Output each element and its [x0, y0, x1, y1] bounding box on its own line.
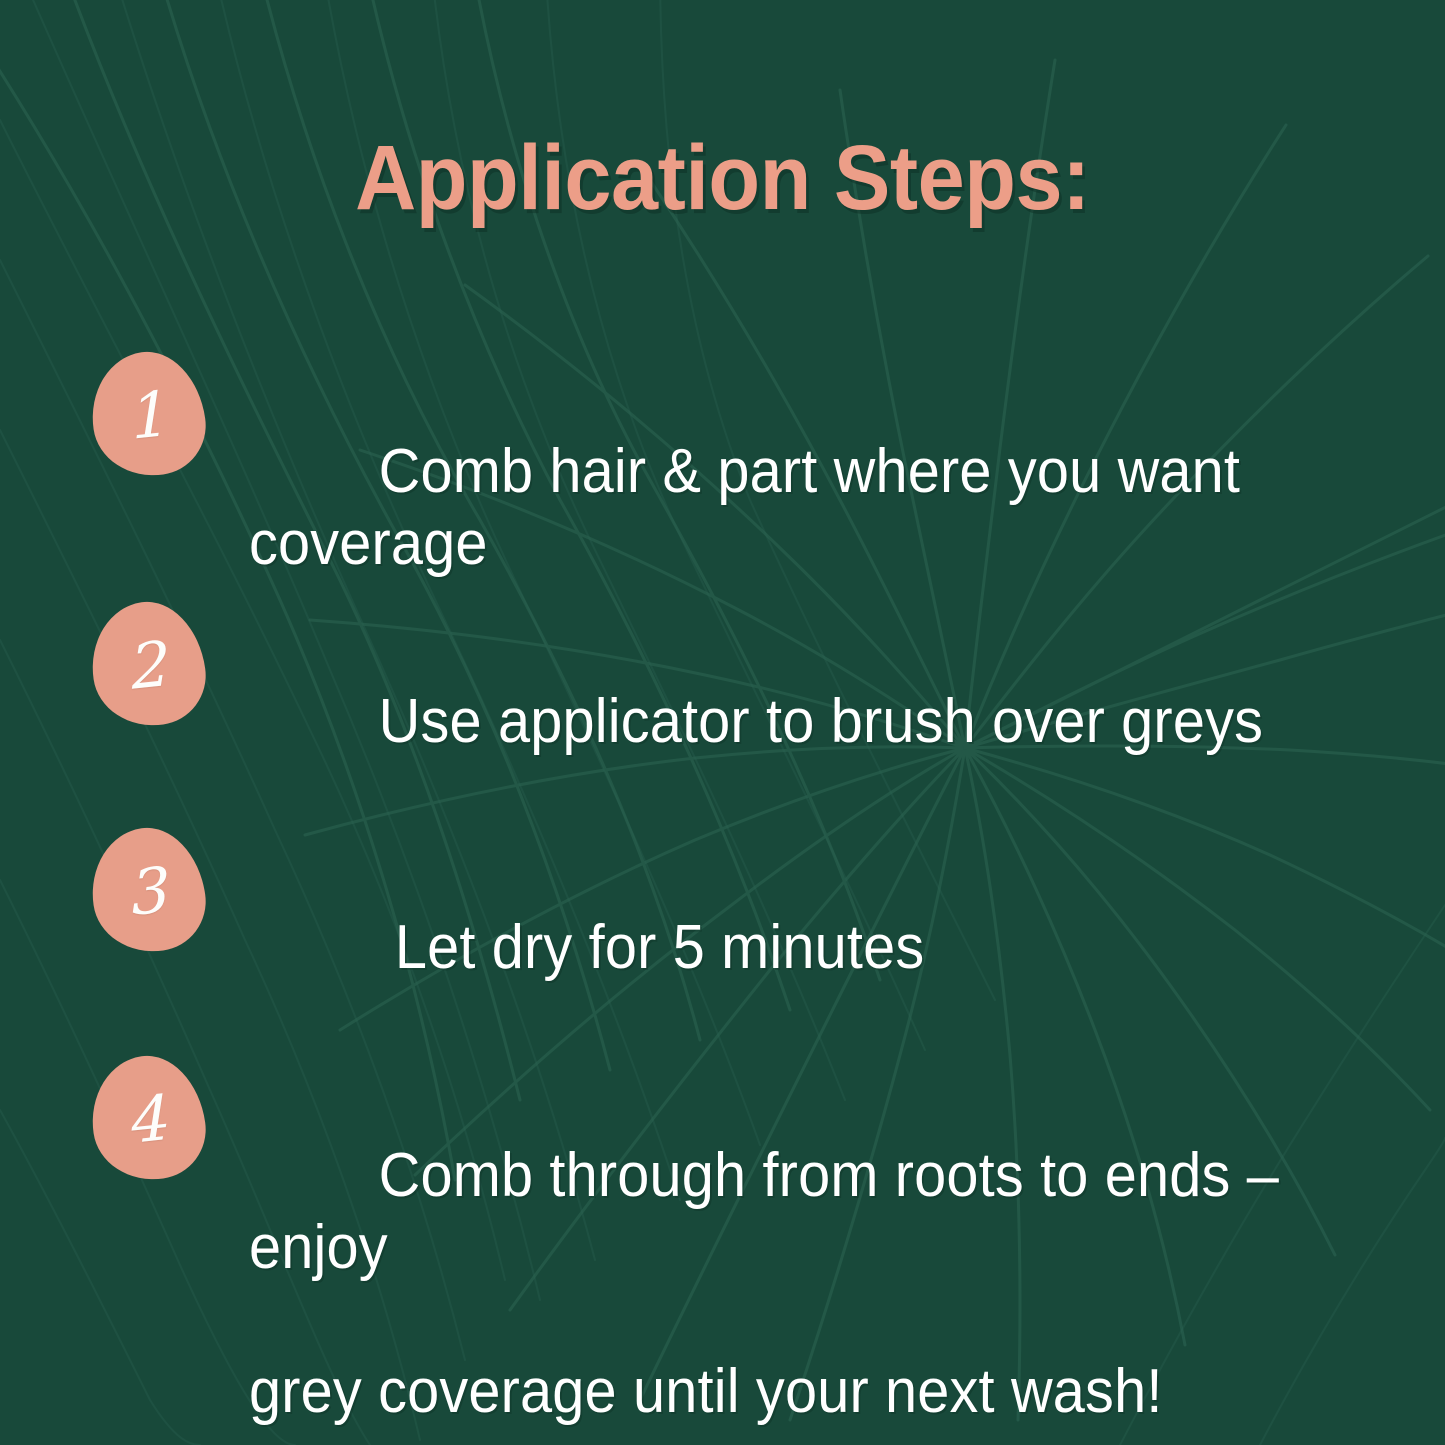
step-item: 2 Use applicator to brush over greys [0, 602, 1445, 830]
step-text-line1: Let dry for 5 minutes [379, 913, 925, 982]
step-number-badge: 4 [92, 1056, 204, 1180]
step-item: 4 Comb through from roots to ends – enjo… [0, 1056, 1445, 1445]
application-steps-graphic: Application Steps: 1 Comb hair & part wh… [0, 0, 1445, 1445]
step-number: 1 [90, 346, 206, 482]
step-number: 4 [90, 1050, 206, 1186]
step-text-line1: Comb hair & part where you want coverage [249, 437, 1256, 578]
step-number: 2 [90, 596, 206, 732]
page-title: Application Steps: [58, 128, 1387, 228]
step-text-line1: Use applicator to brush over greys [379, 687, 1263, 756]
steps-list: 1 Comb hair & part where you want covera… [0, 352, 1445, 1252]
step-text-line2: grey coverage until your next wash! [249, 1356, 1296, 1428]
step-number-badge: 2 [92, 602, 204, 726]
step-number-badge: 3 [92, 828, 204, 952]
step-text-line1: Comb through from roots to ends – enjoy [249, 1141, 1295, 1282]
step-item: 3 Let dry for 5 minutes [0, 828, 1445, 1056]
step-text: Use applicator to brush over greys [249, 602, 1296, 830]
step-number-badge: 1 [92, 352, 204, 476]
step-text: Let dry for 5 minutes [249, 828, 1296, 1056]
step-text: Comb through from roots to ends – enjoy … [249, 1056, 1296, 1445]
step-number: 3 [90, 822, 206, 958]
